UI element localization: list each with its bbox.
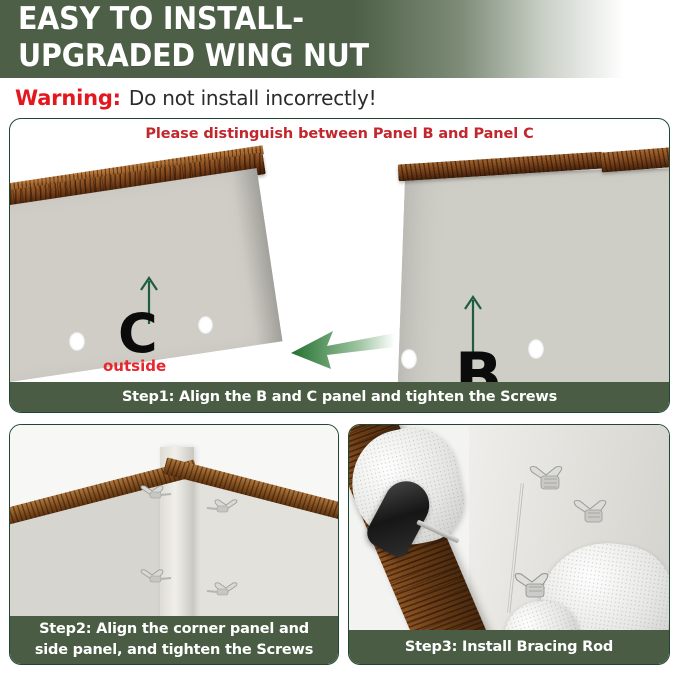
wing-nut-icon bbox=[138, 483, 172, 505]
step1-panel: C outside B inside bbox=[9, 118, 670, 413]
panel-b-illustration bbox=[393, 149, 669, 412]
wing-nut-icon bbox=[527, 463, 573, 497]
wing-nut-icon bbox=[511, 568, 557, 604]
wing-nut-icon bbox=[206, 497, 240, 519]
panel-c-sublabel: outside bbox=[103, 357, 166, 375]
panel-hole bbox=[401, 349, 417, 369]
wing-nut-icon bbox=[571, 497, 615, 529]
step2-panel: Step2: Align the corner panel and side p… bbox=[9, 424, 339, 665]
wing-nut-icon bbox=[206, 580, 240, 602]
wood-trim-b-right bbox=[600, 143, 669, 172]
wing-nut-icon bbox=[138, 567, 172, 589]
page-title: EASY TO INSTALL- UPGRADED WING NUT bbox=[18, 1, 607, 75]
warning-text: Do not install incorrectly! bbox=[129, 86, 377, 110]
step1-caption: Step1: Align the B and C panel and tight… bbox=[10, 382, 669, 412]
step3-illustration bbox=[349, 425, 669, 664]
green-left-arrow-icon bbox=[287, 325, 395, 371]
header-banner: EASY TO INSTALL- UPGRADED WING NUT bbox=[0, 0, 679, 78]
distinguish-note: Please distinguish between Panel B and P… bbox=[10, 126, 669, 142]
panel-hole bbox=[69, 332, 85, 351]
warning-row: Warning: Do not install incorrectly! bbox=[0, 82, 679, 114]
step1-illustration: C outside B inside bbox=[10, 119, 669, 412]
panel-hole bbox=[198, 316, 213, 334]
warning-label: Warning: bbox=[15, 86, 121, 110]
infographic-page: EASY TO INSTALL- UPGRADED WING NUT Warni… bbox=[0, 0, 679, 673]
step3-panel: Step3: Install Bracing Rod bbox=[348, 424, 670, 665]
step3-caption: Step3: Install Bracing Rod bbox=[349, 630, 669, 664]
panel-hole bbox=[528, 339, 544, 359]
panel-c-letter: C bbox=[118, 307, 158, 361]
step2-caption: Step2: Align the corner panel and side p… bbox=[10, 616, 338, 664]
metal-panel-b bbox=[397, 168, 669, 412]
